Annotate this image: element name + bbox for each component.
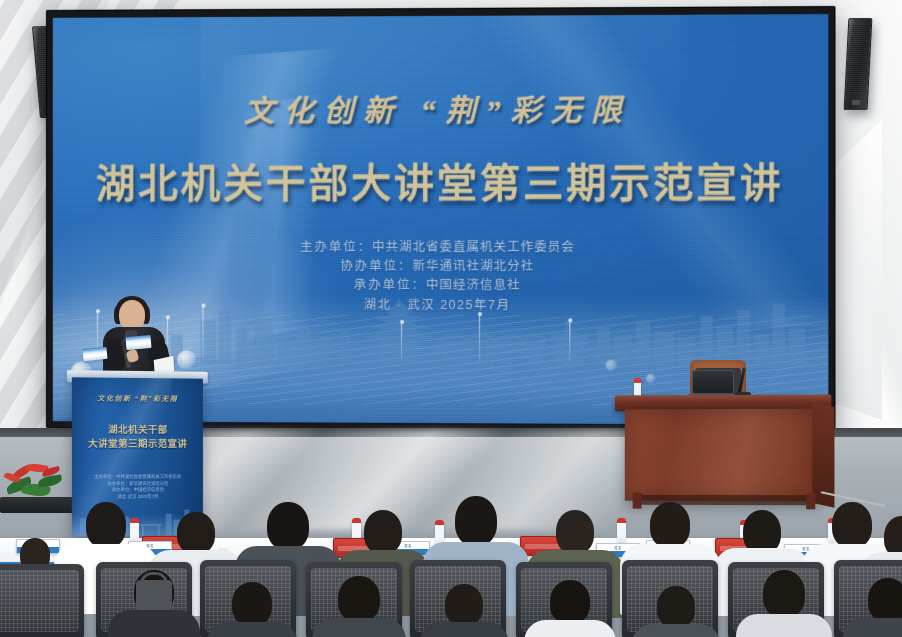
laptop-screen [692, 370, 734, 394]
screen-bokeh [646, 374, 656, 384]
screen-bokeh [177, 350, 197, 370]
chair [0, 564, 84, 637]
red-flowers-planter [4, 462, 66, 502]
audience-person [848, 578, 902, 637]
audience-person [318, 576, 400, 637]
microphone-flag-secondary [82, 347, 107, 361]
presenter-head [119, 300, 145, 330]
audience-person [636, 586, 716, 637]
bag [136, 580, 172, 610]
wall-speaker-right [844, 18, 873, 110]
screen-pole [203, 307, 204, 361]
audience-person [212, 582, 292, 637]
conference-hall-screenshot: 文化创新 “荆”彩无限 湖北机关干部大讲堂第三期示范宣讲 主办单位：中共湖北省委… [0, 0, 902, 637]
microphone-flag [125, 335, 151, 350]
credit-line-cohost: 协办单位：新华通讯社湖北分社 [53, 257, 828, 277]
audience-person [424, 584, 504, 637]
screen-bokeh [606, 360, 618, 372]
credit-line-host: 主办单位：中共湖北省委直属机关工作委员会 [53, 238, 828, 258]
podium-title-line-1: 湖北机关干部 [72, 422, 203, 437]
stage-desk [621, 395, 826, 514]
podium-credits: 主办单位：中共湖北省委直属机关工作委员会 协办单位：新华通讯社湖北分社 承办单位… [72, 474, 203, 501]
screen-tagline: 文化创新 “荆”彩无限 [53, 85, 828, 131]
podium-tagline: 文化创新 “荆”彩无限 [72, 393, 203, 404]
audience-person [742, 570, 826, 637]
desk-front-panel [625, 409, 822, 502]
screen-pole [479, 315, 480, 361]
screen-main-title: 湖北机关干部大讲堂第三期示范宣讲 [53, 150, 828, 209]
credit-line-organizer: 承办单位：中国经济信息社 [53, 275, 828, 295]
screen-pole [401, 323, 402, 361]
screen-pole [569, 321, 570, 361]
audience-person [530, 580, 610, 637]
podium-title-line-2: 大讲堂第三期示范宣讲 [72, 436, 203, 450]
